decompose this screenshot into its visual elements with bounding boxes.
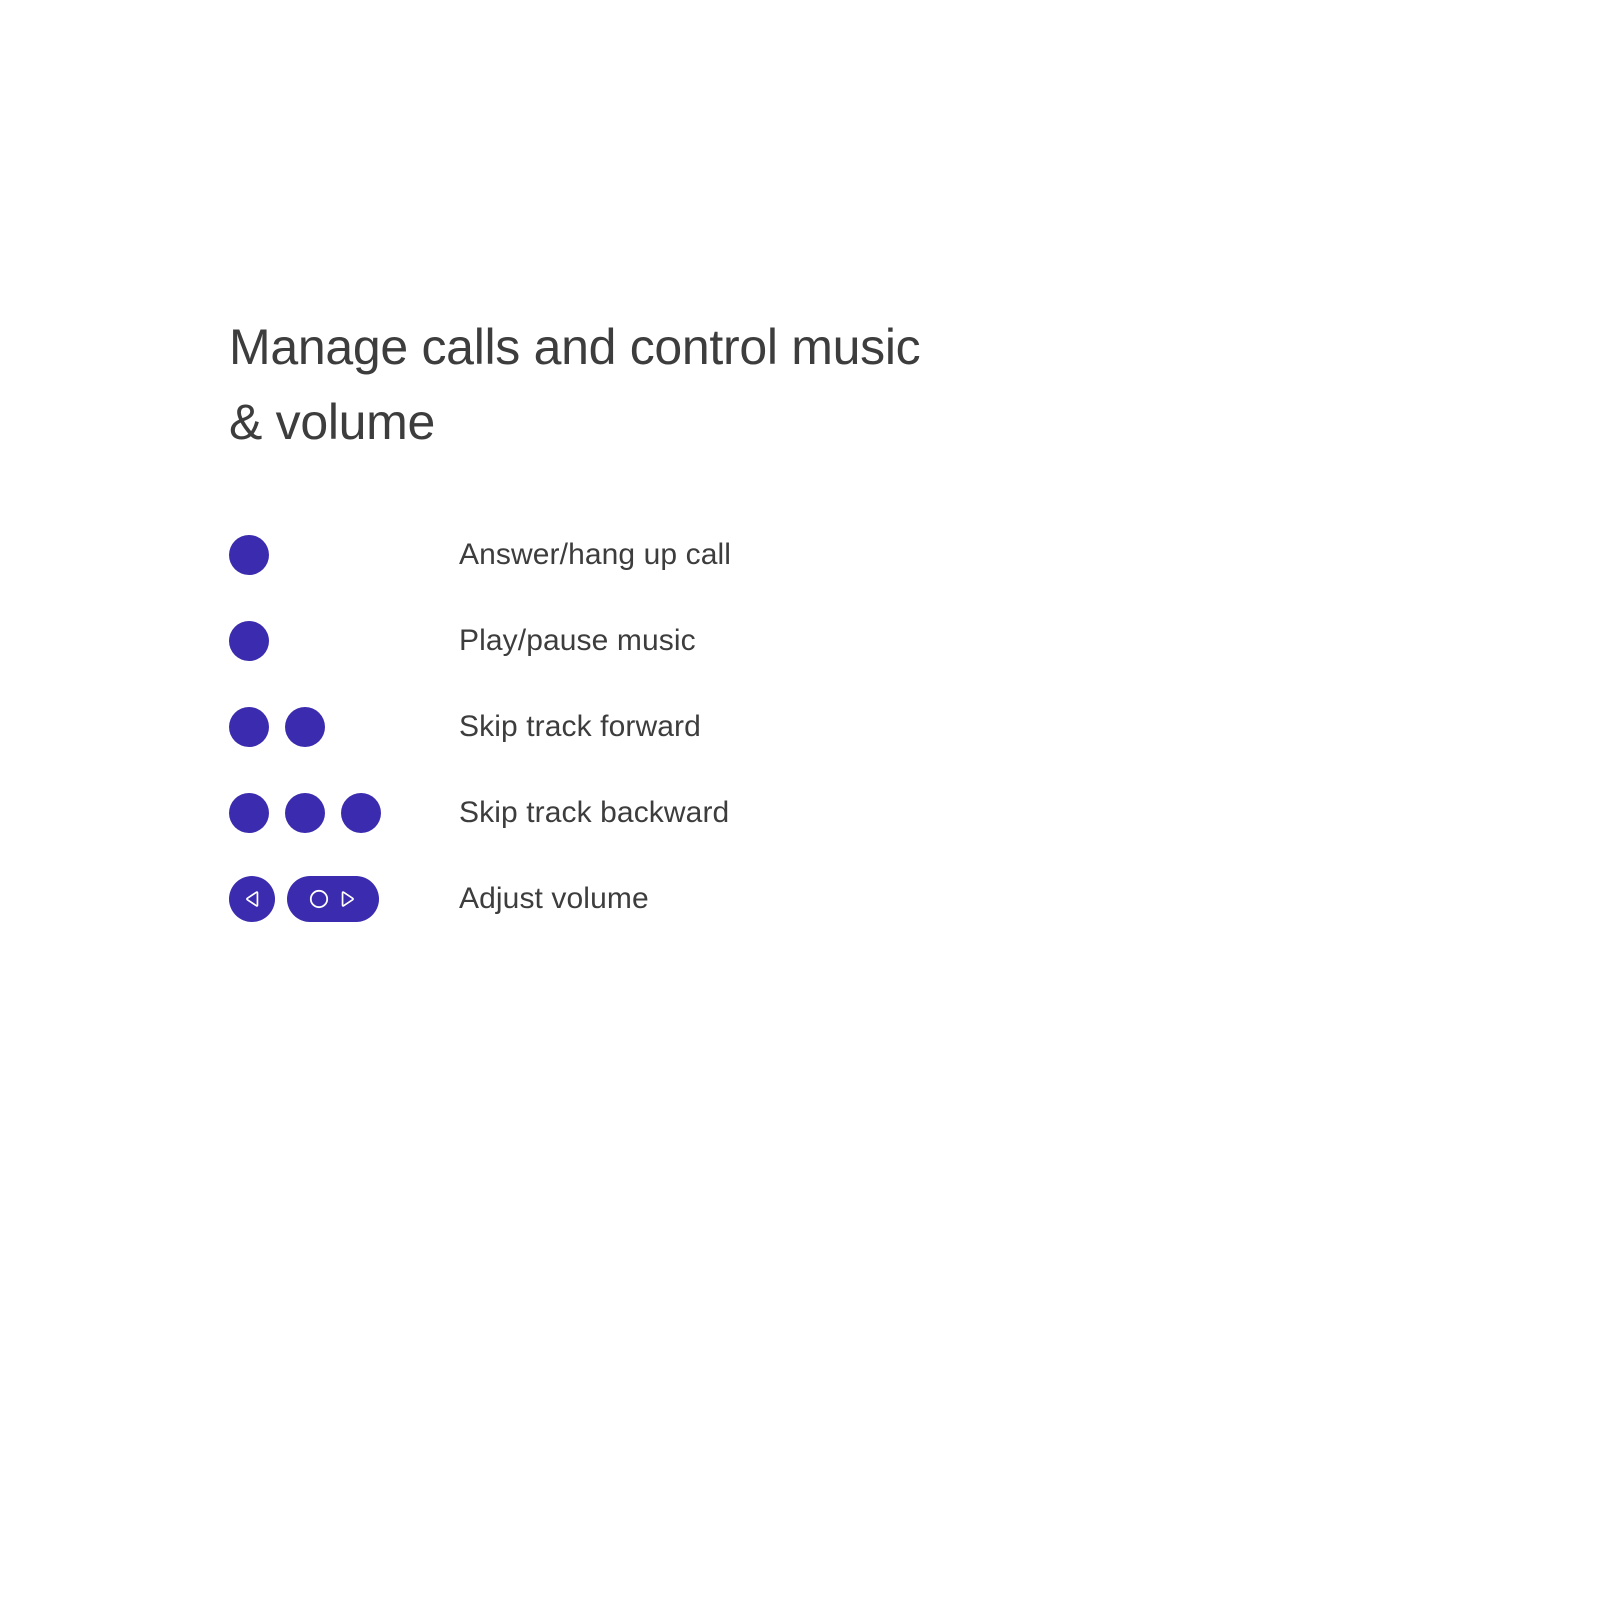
triangle-left-icon [241,888,263,910]
one-tap-indicator [229,610,459,672]
gesture-label: Answer/hang up call [459,536,731,574]
list-item: Skip track forward [229,696,1229,758]
tap-dot-icon [341,793,381,833]
list-item: Skip track backward [229,782,1229,844]
gesture-label: Skip track backward [459,794,729,832]
volume-gesture-indicator [229,868,459,930]
tap-dot-icon [229,707,269,747]
two-tap-indicator [229,696,459,758]
gesture-list: Answer/hang up call Play/pause music Ski… [229,524,1229,930]
volume-pill [287,876,379,922]
tap-dot-icon [229,793,269,833]
tap-dot-icon [229,535,269,575]
list-item: Adjust volume [229,868,1229,930]
tap-dot-icon [285,707,325,747]
gesture-label: Adjust volume [459,880,649,918]
list-item: Answer/hang up call [229,524,1229,586]
tap-dot-icon [229,621,269,661]
triangle-right-icon [337,888,359,910]
three-tap-indicator [229,782,459,844]
one-tap-indicator [229,524,459,586]
page-root: Manage calls and control music & volume … [0,0,1600,1600]
volume-down-button [229,876,275,922]
page-title: Manage calls and control music & volume [229,310,1149,460]
gesture-label: Skip track forward [459,708,701,746]
title-block: Manage calls and control music & volume [229,310,1149,460]
tap-dot-icon [285,793,325,833]
circle-outline-icon [307,887,331,911]
list-item: Play/pause music [229,610,1229,672]
gesture-label: Play/pause music [459,622,696,660]
